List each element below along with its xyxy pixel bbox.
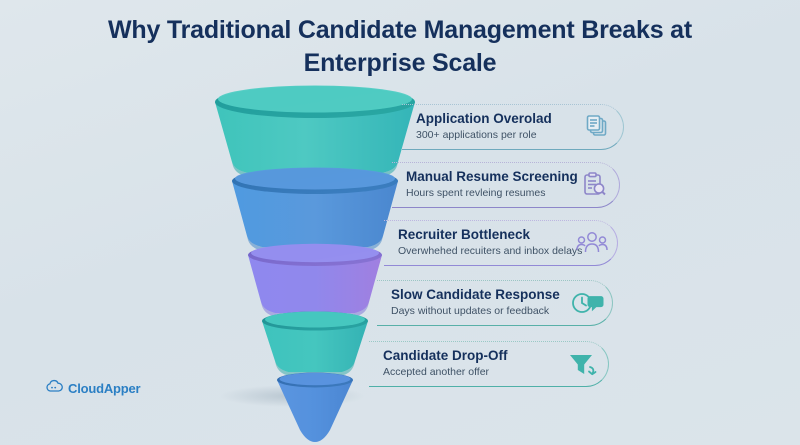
callout-title: Application Overolad	[416, 111, 575, 127]
infographic-canvas: Why Traditional Candidate Management Bre…	[0, 0, 800, 445]
funnel-stage-2	[232, 168, 398, 252]
callout-text: Application Overolad 300+ applications p…	[416, 111, 575, 142]
callout-card-recruiter-bottleneck[interactable]: Recruiter Bottleneck Overwhehed recuiter…	[384, 220, 618, 266]
funnel-callout-row[interactable]: Manual Resume Screening Hours spent revl…	[392, 162, 620, 208]
callout-text: Slow Candidate Response Days without upd…	[391, 287, 564, 318]
callout-text: Recruiter Bottleneck Overwhehed recuiter…	[398, 227, 569, 258]
callout-title: Manual Resume Screening	[406, 169, 571, 185]
brand-logo[interactable]: CloudApper	[45, 379, 140, 398]
callout-card-candidate-drop-off[interactable]: Candidate Drop-Off Accepted another offe…	[369, 341, 609, 387]
funnel-callout-row[interactable]: Recruiter Bottleneck Overwhehed recuiter…	[384, 220, 618, 266]
clock-chat-icon	[570, 286, 604, 320]
funnel-callout-row[interactable]: Slow Candidate Response Days without upd…	[377, 280, 613, 326]
page-title: Why Traditional Candidate Management Bre…	[60, 14, 740, 80]
funnel-stage-1	[215, 86, 415, 178]
callout-text: Candidate Drop-Off Accepted another offe…	[383, 348, 560, 379]
funnel-stage-3	[248, 244, 382, 317]
callout-subtitle: Overwhehed recuiters and inbox delays	[398, 244, 569, 258]
funnel-stage-4	[262, 312, 368, 377]
callout-title: Candidate Drop-Off	[383, 348, 560, 364]
callout-card-application-overload[interactable]: Application Overolad 300+ applications p…	[402, 104, 624, 150]
callout-subtitle: Accepted another offer	[383, 365, 560, 379]
callout-title: Recruiter Bottleneck	[398, 227, 569, 243]
callout-text: Manual Resume Screening Hours spent revl…	[406, 169, 571, 200]
callout-card-manual-resume-screening[interactable]: Manual Resume Screening Hours spent revl…	[392, 162, 620, 208]
documents-stack-icon	[581, 110, 615, 144]
funnel-callout-row[interactable]: Candidate Drop-Off Accepted another offe…	[369, 341, 609, 387]
callout-subtitle: 300+ applications per role	[416, 128, 575, 142]
cloud-icon	[45, 379, 64, 398]
funnel-arrow-icon	[566, 347, 600, 381]
callout-card-slow-candidate-response[interactable]: Slow Candidate Response Days without upd…	[377, 280, 613, 326]
funnel-callout-row[interactable]: Application Overolad 300+ applications p…	[402, 104, 624, 150]
funnel-stage-5	[277, 373, 353, 443]
brand-name: CloudApper	[68, 381, 140, 396]
callout-subtitle: Days without updates or feedback	[391, 304, 564, 318]
people-group-icon	[575, 226, 609, 260]
clipboard-search-icon	[577, 168, 611, 202]
callout-title: Slow Candidate Response	[391, 287, 564, 303]
callout-subtitle: Hours spent revleing resumes	[406, 186, 571, 200]
